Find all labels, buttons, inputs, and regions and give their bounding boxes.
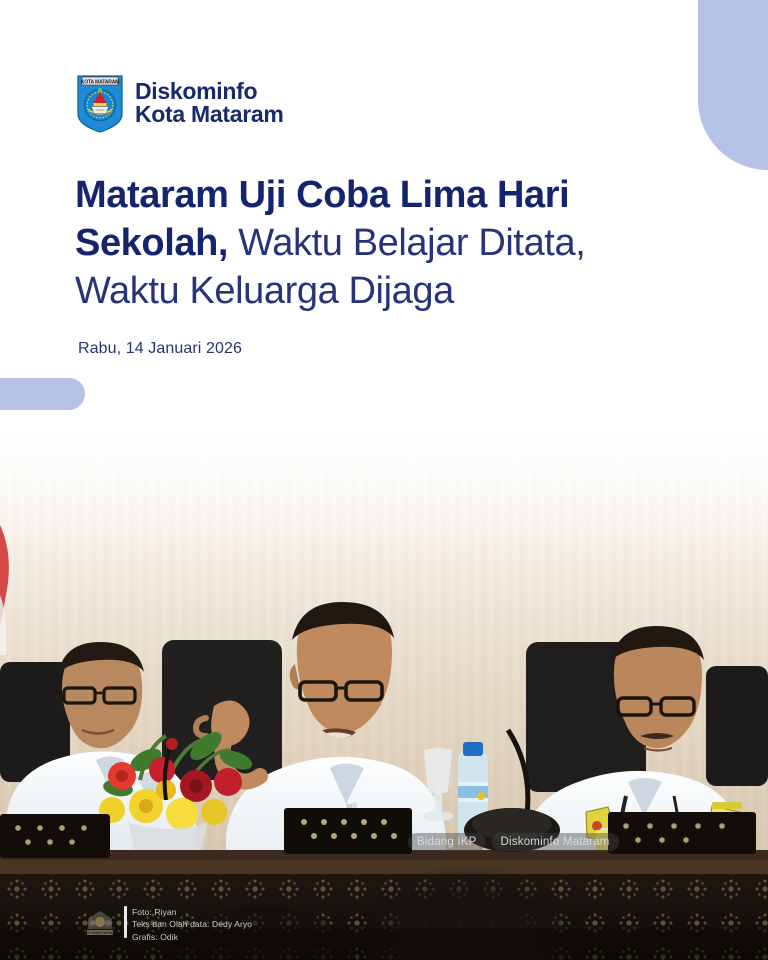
news-photo: NAMA: [0, 430, 768, 960]
kota-mataram-coat-of-arms-icon: KOTA MATARAM: [75, 72, 125, 134]
social-media-card: KOTA MATARAM Diskominfo Kota Mataram Mat…: [0, 0, 768, 960]
brand-line-2: Kota Mataram: [135, 103, 284, 126]
headline-bold-line-1: Mataram Uji Coba Lima Hari: [75, 174, 569, 216]
headline-regular-line-2: Waktu Belajar Ditata,: [228, 222, 585, 264]
svg-text:KOTAMATARAM: KOTAMATARAM: [84, 930, 116, 935]
photo-credits: Foto: Riyan Teks dan Olah data: Dedy Ary…: [132, 906, 252, 943]
decorative-shape-left: [0, 378, 85, 410]
decorative-shape-top-right: [698, 0, 768, 170]
brand-logo: KOTA MATARAM Diskominfo Kota Mataram: [75, 72, 284, 134]
credit-graphic: Grafis: Odik: [132, 931, 252, 943]
credits-accent-bar: [124, 906, 127, 938]
credit-photo: Foto: Riyan: [132, 906, 252, 918]
svg-text:KOTA MATARAM: KOTA MATARAM: [81, 79, 119, 85]
watermark-badge-diskominfo: Diskominfo Mataram: [492, 833, 619, 851]
credit-text-data: Teks dan Olah data: Dedy Aryo: [132, 918, 252, 930]
kota-mataram-watermark-icon: KOTAMATARAM: [78, 908, 122, 938]
headline-regular-line-3: Waktu Keluarga Dijaga: [75, 270, 454, 312]
brand-line-1: Diskominfo: [135, 80, 284, 103]
watermark-badge-bidang: Bidang IKP: [408, 833, 486, 851]
page-title: Mataram Uji Coba Lima Hari Sekolah, Wakt…: [75, 172, 685, 316]
headline-bold-line-2: Sekolah,: [75, 222, 228, 264]
publish-date: Rabu, 14 Januari 2026: [78, 340, 242, 358]
photo-watermarks: Bidang IKP Diskominfo Mataram: [408, 833, 619, 851]
